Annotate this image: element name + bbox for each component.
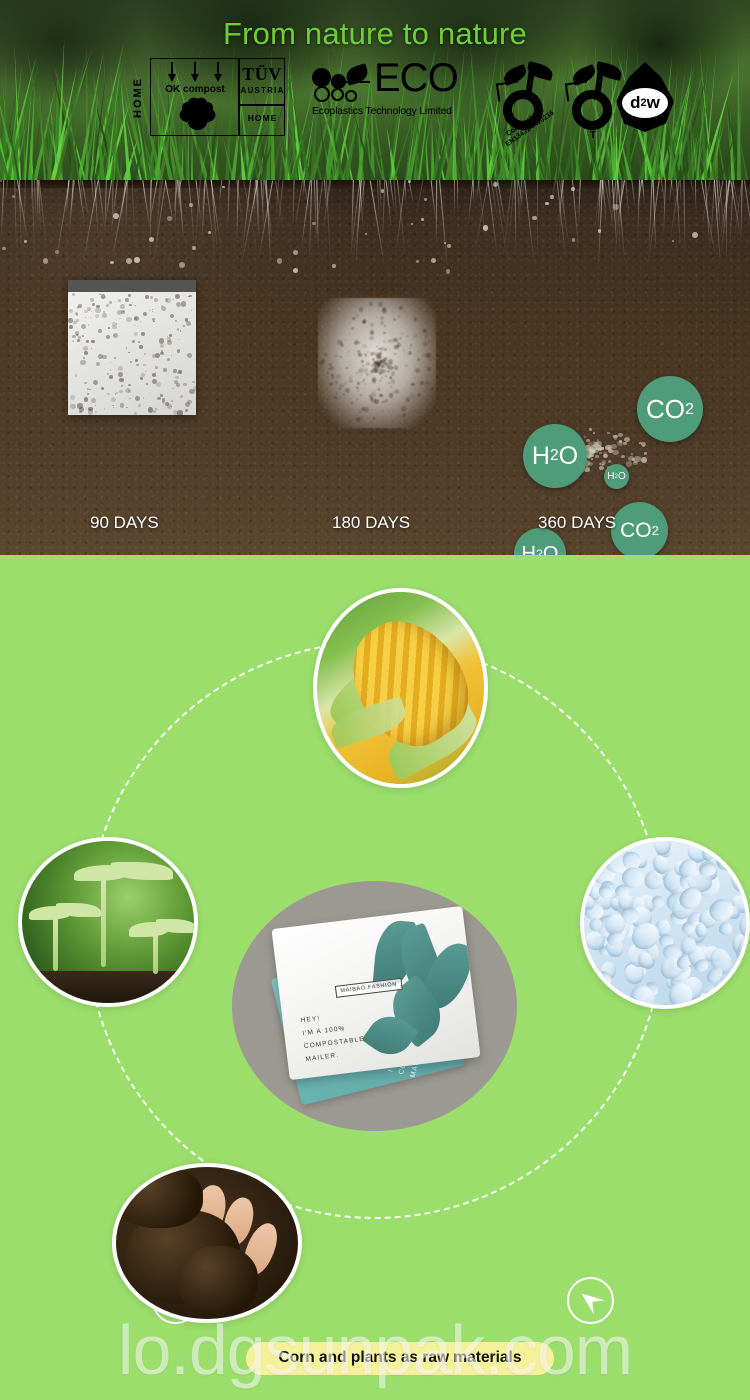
infographic-page: From nature to nature HOME OK compost TÜ…: [0, 0, 750, 1400]
stage-label: 360 DAYS: [538, 513, 616, 533]
cert-seedling-t-label: T: [590, 130, 596, 141]
cert-d2w-label: d2w: [622, 88, 668, 118]
stage-labels-row: 90 DAYS180 DAYS360 DAYS: [0, 513, 750, 537]
cert-home-label: HOME: [240, 113, 285, 123]
node-seedlings-image: [18, 837, 198, 1007]
stage-label: 90 DAYS: [90, 513, 159, 533]
cert-eco-subtitle: Ecoplastics Technology Limited: [312, 105, 472, 117]
mailer-front-text: HEY! I'M A 100% COMPOSTABLE MAILER.: [300, 1007, 367, 1066]
cert-tuv-label: TÜV: [242, 64, 282, 85]
roots-decoration: [0, 180, 750, 275]
gas-bubble: H2O: [523, 424, 587, 488]
cert-d2w-icon: d2w: [612, 62, 678, 134]
eco-marks-icon: [312, 66, 374, 106]
label-corn-raw-material: Corn and plants as raw materials: [246, 1342, 554, 1375]
certification-row: HOME OK compost TÜV AUSTRIA HOME ECO Eco…: [0, 56, 750, 140]
bag-stage-90-days-image: [68, 280, 196, 415]
banner-section: From nature to nature HOME OK compost TÜ…: [0, 0, 750, 180]
cert-home-vertical-label: HOME: [132, 62, 150, 134]
cert-ok-compost-label: OK compost: [154, 84, 236, 95]
bag-stage-180-days-image: [318, 298, 436, 428]
cert-eco-icon: ECO Ecoplastics Technology Limited: [312, 64, 472, 130]
node-corn-image: [313, 588, 488, 788]
node-center-product-image: HEY! I'M A 100% COMPOST MAILER. MAIBAO F…: [232, 881, 517, 1131]
cert-austria-label: AUSTRIA: [240, 86, 285, 95]
down-arrows-icon: [160, 62, 230, 84]
stage-label: 180 DAYS: [332, 513, 410, 533]
lifecycle-section: Corn and plants as raw materials Promote…: [0, 555, 750, 1400]
cycle-arrow-icon-upper-right: [567, 1277, 614, 1324]
gas-bubble: H2O: [604, 464, 629, 489]
cert-tuv-ok-compost-home-icon: HOME OK compost TÜV AUSTRIA HOME: [130, 58, 285, 136]
cert-eco-word: ECO: [374, 58, 458, 98]
mailer-brand-label: MAIBAO FASHION: [335, 978, 403, 998]
node-plastic-pellets-image: [580, 837, 750, 1009]
gas-bubble: CO2: [637, 376, 703, 442]
banner-title: From nature to nature: [0, 16, 750, 52]
flower-icon: [174, 98, 220, 132]
node-compost-hand-image: [112, 1163, 302, 1323]
cert-seedling-compostable-icon: CompostableEN13432-7W0216: [497, 64, 559, 136]
degradation-section: CO2H2OH2OCO2H2O 90 DAYS180 DAYS360 DAYS: [0, 180, 750, 555]
